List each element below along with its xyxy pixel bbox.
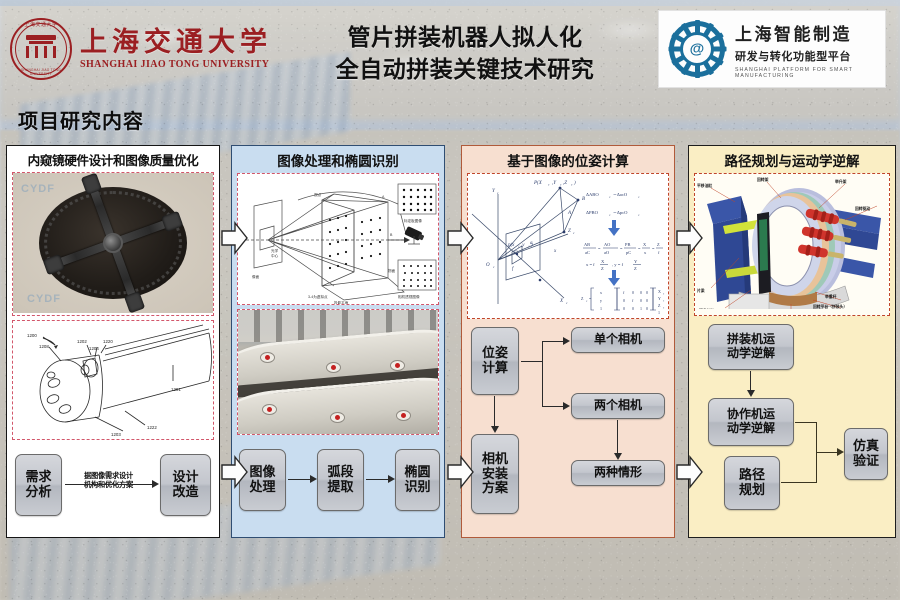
svg-text:=: = [598, 246, 601, 251]
svg-text:f: f [658, 250, 660, 255]
svg-text:1201: 1201 [171, 387, 181, 392]
flow-box-line: 分析 [25, 485, 51, 500]
flow-box-arc-extraction[interactable]: 弧段 提取 [317, 449, 364, 511]
erector-3d-model-image: 平移油缸 回转架 举升架 回转驱动 片梁 提升油缸 举重杆 回转平台（拼装头） … [695, 174, 889, 309]
svg-text:0: 0 [632, 290, 634, 295]
svg-text:c: c [548, 182, 550, 186]
svg-text:aC: aC [585, 250, 590, 255]
svg-text:X: X [658, 289, 661, 294]
flow-box-line: 验证 [853, 454, 879, 469]
svg-text:1200: 1200 [27, 333, 37, 338]
svg-text:1202: 1202 [77, 339, 87, 344]
patent-drawing-image: 1200 1208 1202 1204 1220 1201 1222 1203 [13, 321, 213, 439]
svg-text:Z: Z [634, 266, 637, 271]
svg-text:回转架: 回转架 [757, 177, 769, 182]
svg-text:∼ΔpcO: ∼ΔpcO [613, 210, 628, 215]
flow-arrow-head [837, 448, 844, 456]
svg-text:1203: 1203 [111, 432, 121, 437]
svg-text:f: f [632, 298, 634, 303]
flow-box-line: 两个相机 [594, 399, 642, 412]
arrow-p3-p4-bottom [676, 455, 703, 489]
panel-3-heading: 基于图像的位姿计算 [467, 150, 669, 173]
svg-text:投影平面: 投影平面 [334, 300, 349, 304]
svg-text:平移油缸: 平移油缸 [697, 183, 712, 188]
flow-box-line: 路径 [739, 468, 765, 483]
flow-box-line: 安装 [482, 467, 508, 482]
sjtu-name-cn: 上海交通大学 [80, 28, 272, 58]
svg-text:PB: PB [625, 242, 630, 247]
arrow-p3-p4-top [676, 221, 703, 255]
flow-box-line: 协作机运 [727, 408, 775, 421]
panel-4-heading: 路径规划与运动学逆解 [694, 150, 890, 173]
svg-text:回转驱动: 回转驱动 [855, 206, 870, 211]
flow-box-line: 图像 [249, 465, 275, 480]
flow-box-line: 弧段 [327, 465, 353, 480]
flow-box-line: 拼装机运 [727, 333, 775, 346]
flow-arrow-line [816, 452, 838, 453]
flow-box-ellipse-recognition[interactable]: 椭圆 识别 [395, 449, 440, 511]
flow-box-erector-ik[interactable]: 拼装机运 动学逆解 [708, 324, 794, 370]
flow-box-line: 动学逆解 [727, 422, 775, 435]
svg-text:0: 0 [646, 306, 648, 311]
panel-pose-estimation[interactable]: 基于图像的位姿计算 [461, 145, 675, 538]
svg-text:c: c [566, 301, 568, 305]
svg-text:c: c [638, 195, 640, 199]
svg-text:提升油缸: 提升油缸 [699, 308, 714, 309]
flow-box-line: 需求 [25, 470, 51, 485]
svg-text:f: f [512, 267, 514, 272]
page-title: 管片拼装机器人拟人化 全自动拼装关键技术研究 [300, 22, 630, 85]
svg-text:Z: Z [657, 242, 660, 247]
flow-arrow-head [563, 337, 570, 345]
arrow-p2-p3-top [447, 221, 474, 255]
svg-text:1204: 1204 [89, 346, 99, 351]
svg-text:1220: 1220 [103, 339, 113, 344]
svg-text:1222: 1222 [147, 425, 157, 430]
svg-text:c: c [663, 292, 665, 295]
flow-arrow-line [617, 420, 618, 454]
svg-text:Z: Z [581, 296, 584, 301]
flow-arrow-line [750, 371, 751, 391]
flow-arrow-head [310, 475, 317, 483]
svg-text:物面: 物面 [388, 268, 396, 273]
partner-logo-line-1: 上海智能制造 [735, 20, 877, 45]
flow-arrow-head [152, 480, 159, 488]
flow-box-line: 位姿 [482, 346, 508, 361]
svg-text:X: X [601, 259, 605, 264]
calibration-geometry-image: 像面 光学 中心 3-4为虚拟点 物面 投影平面 标定板图像 相机透视图像 视点… [238, 174, 438, 304]
flow-box-line: 方案 [482, 481, 508, 496]
flow-connector-label-line: 据图像需求设计 [66, 471, 151, 480]
flow-arrow-head [614, 453, 622, 460]
pinhole-camera-model-image: P(Xc ,Yc ,Zc) Yc Zc Xc Oc x p(x1,y1) C f… [468, 174, 668, 312]
panel-endoscope-hardware[interactable]: 内窥镜硬件设计和图像质量优化 CYDF CYDF [6, 145, 220, 538]
sjtu-logo: 上海交通大学 SHANGHAI JIAO TONG UNIVERSITY 上海交… [10, 14, 278, 84]
panel-path-planning[interactable]: 路径规划与运动学逆解 [688, 145, 896, 538]
svg-text:=: = [652, 246, 655, 251]
svg-text:1: 1 [518, 244, 520, 248]
svg-text:): ) [573, 181, 576, 186]
svg-text:3-4为虚拟点: 3-4为虚拟点 [308, 294, 328, 299]
svg-text:像面: 像面 [252, 274, 260, 279]
flow-box-pose-computation[interactable]: 位姿 计算 [471, 327, 519, 395]
svg-text:c: c [609, 213, 611, 217]
svg-text:y: y [600, 298, 602, 303]
svg-text:0: 0 [640, 298, 642, 303]
flow-arrow-line [288, 479, 311, 480]
flow-box-path-planning[interactable]: 路径 规划 [724, 456, 780, 510]
flow-arrow-line [795, 422, 817, 423]
partner-logo-text: 上海智能制造 研发与转化功能型平台 SHANGHAI PLATFORM FOR … [735, 20, 877, 79]
flow-box-single-camera[interactable]: 单个相机 [571, 327, 665, 353]
panel-2-flow: 图像 处理 弧段 提取 椭圆 识别 [237, 441, 439, 525]
flow-arrow-line [494, 396, 495, 427]
svg-text:0: 0 [632, 306, 634, 311]
flow-box-camera-mounting[interactable]: 相机 安装 方案 [471, 434, 519, 514]
svg-text:x = f: x = f [586, 262, 595, 267]
figure-segment-photo [237, 309, 439, 435]
svg-text:c: c [560, 182, 562, 186]
sjtu-name-en: SHANGHAI JIAO TONG UNIVERSITY [80, 59, 272, 70]
page-title-line-1: 管片拼装机器人拟人化 [300, 22, 630, 54]
svg-text:,Z: ,Z [563, 181, 567, 186]
svg-text:Z: Z [568, 229, 571, 234]
svg-text:X: X [643, 242, 647, 247]
svg-text:P(X: P(X [533, 181, 543, 186]
flow-arrow-head [388, 475, 395, 483]
svg-text:c: c [493, 265, 495, 269]
sjtu-seal-top-text: 上海交通大学 [10, 21, 72, 28]
svg-text:c: c [586, 300, 588, 303]
svg-text:0: 0 [640, 290, 642, 295]
panel-4-flow: 拼装机运 动学逆解 协作机运 动学逆解 路径 规划 [694, 324, 890, 540]
section-title: 项目研究内容 [18, 105, 144, 134]
flow-box-line: 识别 [404, 480, 430, 495]
photo-watermark: CYDF [21, 183, 55, 195]
flow-box-line: 单个相机 [594, 333, 642, 346]
svg-text:p(x: p(x [507, 243, 515, 248]
partner-logo-line-3: SHANGHAI PLATFORM FOR SMART MANUFACTURIN… [735, 67, 877, 79]
flow-box-line: 提取 [327, 480, 353, 495]
svg-text:举升架: 举升架 [834, 179, 847, 184]
svg-text:AB: AB [584, 242, 590, 247]
panel-2-heading: 图像处理和椭圆识别 [237, 150, 439, 173]
svg-text:c: c [571, 182, 573, 186]
flow-box-two-scenarios[interactable]: 两种情形 [571, 460, 665, 486]
svg-text:c: c [663, 306, 665, 309]
flow-box-two-cameras[interactable]: 两个相机 [571, 393, 665, 419]
svg-text:f: f [623, 290, 625, 295]
flow-arrow-line [781, 482, 817, 483]
svg-text:1208: 1208 [39, 344, 49, 349]
svg-text:=: = [589, 296, 592, 301]
svg-text:回转平台（拼装头）: 回转平台（拼装头） [813, 304, 847, 309]
partner-logo: @ 上海智能制造 研发与转化功能型平台 SHANGHAI PLATFORM FO… [658, 10, 886, 88]
svg-text:,Y: ,Y [552, 181, 557, 186]
photo-watermark-2: CYDF [27, 293, 61, 305]
arrow-p1-p2-bottom [221, 455, 248, 489]
svg-text:x: x [600, 290, 602, 295]
svg-text:B: B [582, 197, 585, 202]
arrow-p2-p3-bottom [447, 455, 474, 489]
svg-text:1: 1 [658, 310, 660, 315]
arrow-p1-p2-top [221, 221, 248, 255]
svg-text:片梁: 片梁 [697, 288, 705, 293]
svg-text:c: c [638, 213, 640, 217]
flow-box-line: 相机 [482, 452, 508, 467]
flow-arrow-head [747, 390, 755, 397]
svg-text:0: 0 [623, 306, 625, 311]
svg-text:视点: 视点 [314, 192, 322, 197]
top-band [0, 0, 900, 6]
segment-marker-photo-image [238, 310, 438, 434]
svg-text:1: 1 [600, 306, 602, 311]
svg-text:X: X [559, 299, 564, 304]
svg-text:x: x [553, 249, 557, 254]
flow-arrow-line [521, 361, 543, 362]
flow-box-cooperative-ik[interactable]: 协作机运 动学逆解 [708, 398, 794, 446]
figure-pinhole-model: P(Xc ,Yc ,Zc) Yc Zc Xc Oc x p(x1,y1) C f… [467, 173, 669, 319]
svg-text:c: c [663, 299, 665, 302]
svg-text:=: = [620, 246, 623, 251]
svg-text:aO: aO [604, 250, 609, 255]
flow-box-line: 处理 [249, 480, 275, 495]
flow-box-line: 动学逆解 [727, 347, 775, 360]
svg-text:∼ΔacO: ∼ΔacO [613, 192, 628, 197]
svg-text:x: x [644, 250, 647, 255]
sjtu-seal-bottom-text: SHANGHAI JIAO TONG UNIVERSITY [10, 68, 72, 76]
flow-arrow-line [542, 406, 564, 407]
flow-box-line: 仿真 [853, 439, 879, 454]
figure-calibration-geometry: 像面 光学 中心 3-4为虚拟点 物面 投影平面 标定板图像 相机透视图像 视点… [237, 173, 439, 305]
svg-text:A: A [382, 195, 385, 199]
svg-text:c: c [497, 191, 499, 195]
flow-connector-label: 据图像需求设计 机构和优化方案 [66, 471, 151, 489]
flow-arrow-head [491, 426, 499, 433]
svg-text:c: c [573, 231, 575, 235]
svg-text:1: 1 [640, 306, 642, 311]
at-symbol-icon: @ [690, 41, 705, 58]
flow-arrow-line [542, 341, 543, 407]
flow-box-line: 改造 [172, 485, 198, 500]
flow-box-line: 规划 [739, 483, 765, 498]
svg-text:Y: Y [658, 296, 661, 301]
sjtu-seal-icon: 上海交通大学 SHANGHAI JIAO TONG UNIVERSITY [10, 18, 72, 80]
svg-text:AO: AO [604, 242, 610, 247]
svg-text:0: 0 [646, 290, 648, 295]
figure-erector-photo: CYDF CYDF [12, 172, 214, 316]
svg-text:相机透视图像: 相机透视图像 [398, 294, 420, 299]
svg-text:标定板图像: 标定板图像 [404, 218, 422, 223]
svg-text:pC: pC [626, 250, 631, 255]
svg-text:0: 0 [646, 298, 648, 303]
svg-text:光学: 光学 [271, 248, 279, 253]
flow-box-line: 椭圆 [404, 465, 430, 480]
figure-erector-3d-model: 平移油缸 回转架 举升架 回转驱动 片梁 提升油缸 举重杆 回转平台（拼装头） … [694, 173, 890, 316]
svg-text:O: O [486, 263, 490, 268]
sjtu-wordmark: 上海交通大学 SHANGHAI JIAO TONG UNIVERSITY [80, 28, 272, 71]
flow-arrow-head [563, 402, 570, 410]
partner-logo-line-2: 研发与转化功能型平台 [735, 48, 877, 64]
panel-image-processing[interactable]: 图像处理和椭圆识别 [231, 145, 445, 538]
flow-box-design-modification[interactable]: 设计 改造 [160, 454, 211, 516]
svg-text:Y: Y [634, 259, 638, 264]
svg-text:,y: ,y [521, 243, 525, 248]
svg-text:Z: Z [601, 266, 604, 271]
svg-text:ΔABO: ΔABO [586, 192, 599, 197]
erector-photo-image: CYDF CYDF [13, 173, 213, 313]
gear-icon: @ [667, 19, 727, 79]
flow-arrow-line [366, 479, 389, 480]
svg-text:c: c [609, 195, 611, 199]
panel-1-flow: 需求 分析 据图像需求设计 机构和优化方案 设计 改造 [12, 446, 214, 530]
svg-text:, y = f: , y = f [612, 262, 623, 268]
content-stage: 内窥镜硬件设计和图像质量优化 CYDF CYDF [0, 145, 900, 540]
svg-text:中心: 中心 [271, 253, 279, 258]
svg-text:Y: Y [492, 189, 496, 194]
page-title-line-2: 全自动拼装关键技术研究 [300, 54, 630, 86]
svg-text:Z: Z [658, 303, 661, 308]
figure-patent-drawing: 1200 1208 1202 1204 1220 1201 1222 1203 [12, 320, 214, 440]
flow-arrow-line [65, 484, 153, 485]
svg-text:ΔPBO: ΔPBO [586, 210, 599, 215]
svg-text:=: = [638, 246, 641, 251]
flow-box-line: 两种情形 [594, 466, 642, 479]
svg-text:0: 0 [623, 298, 625, 303]
flow-box-simulation-verification[interactable]: 仿真 验证 [844, 428, 888, 480]
flow-box-line: 设计 [172, 470, 198, 485]
flow-box-line: 计算 [482, 361, 508, 376]
svg-text:举重杆: 举重杆 [824, 294, 837, 299]
flow-arrow-line [542, 341, 564, 342]
svg-text:B: B [390, 233, 393, 237]
panel-3-flow: 位姿 计算 单个相机 两个相机 两种情形 [467, 327, 669, 545]
panel-1-heading: 内窥镜硬件设计和图像质量优化 [12, 150, 214, 172]
flow-box-requirement-analysis[interactable]: 需求 分析 [15, 454, 62, 516]
